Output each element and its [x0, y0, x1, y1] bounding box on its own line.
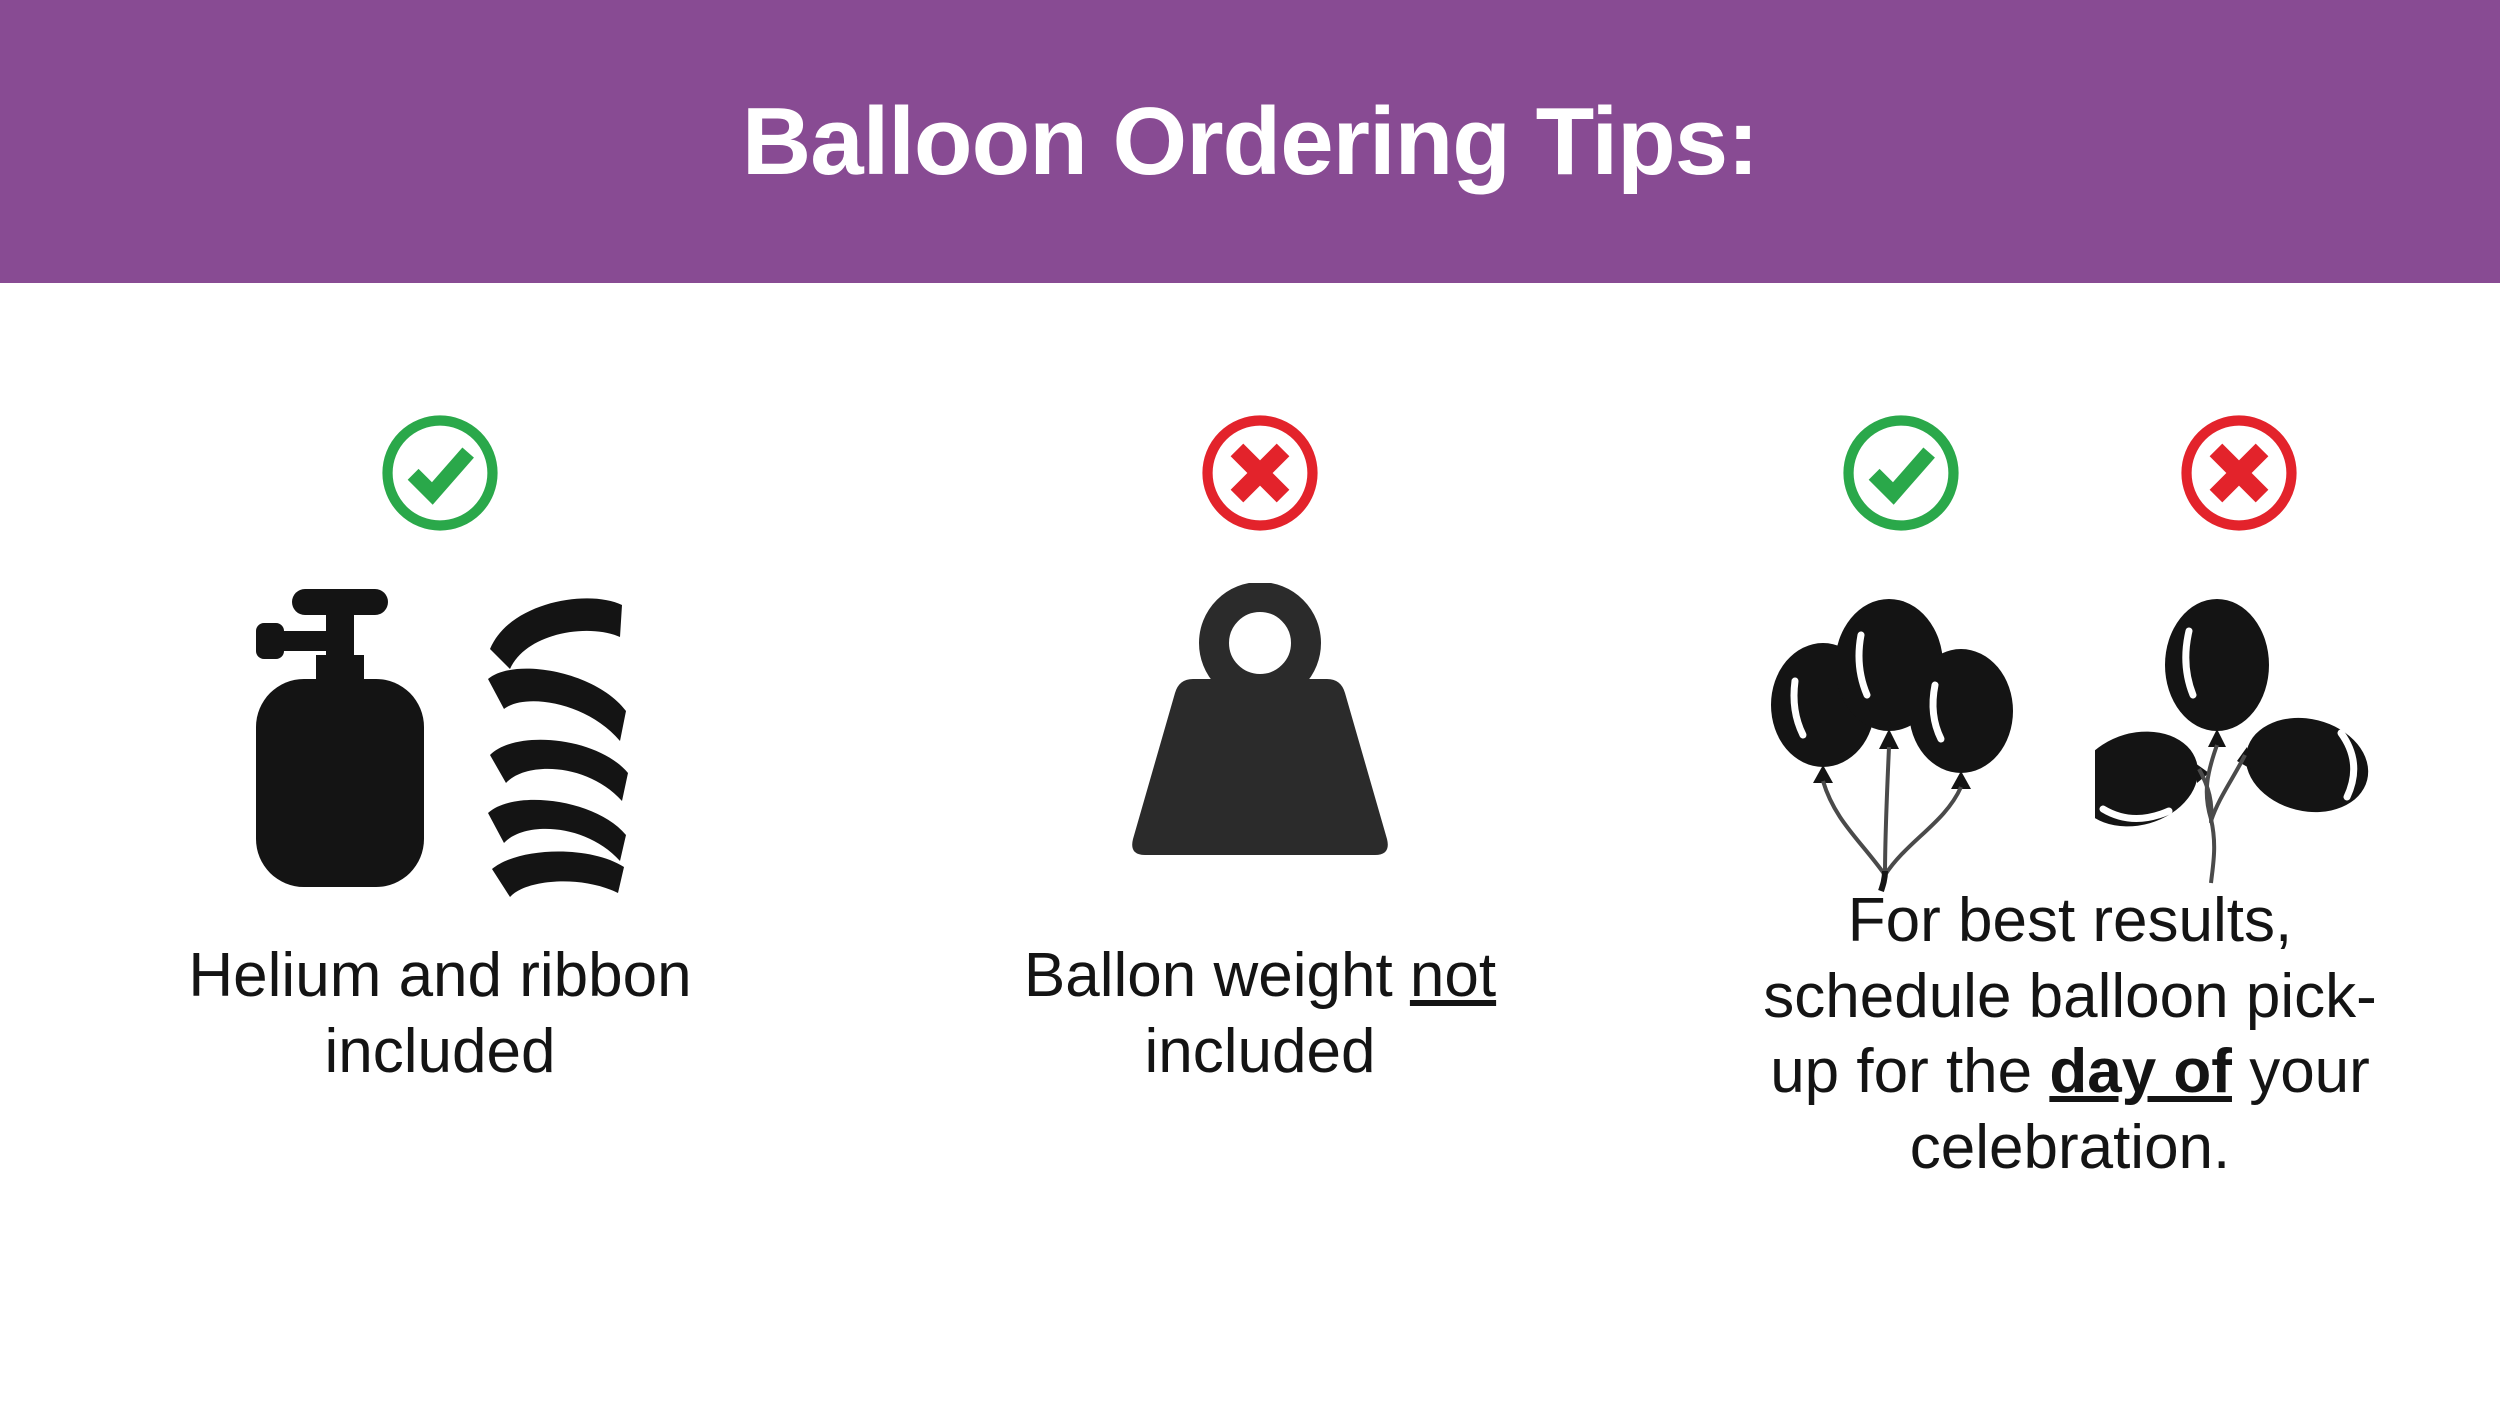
- status-icon-row: [880, 393, 1640, 553]
- status-icon-row: [1640, 393, 2500, 553]
- tip-column-pickup-timing: For best results, schedule balloon pick-…: [1640, 283, 2500, 1406]
- balloons-inflated-icon: [1765, 583, 2035, 893]
- tip-column-helium-ribbon: Helium and ribbon included: [0, 283, 880, 1406]
- ribbon-spiral-icon: [470, 583, 640, 903]
- caption-segment: your: [2232, 1037, 2370, 1106]
- caption-line: Ballon weight not: [950, 938, 1570, 1014]
- page-title: Balloon Ordering Tips:: [742, 94, 1758, 190]
- status-icon-row: [0, 393, 880, 553]
- caption-line: For best results,: [1690, 883, 2450, 959]
- check-circle-icon: [376, 409, 504, 537]
- weight-art-row: [880, 583, 1640, 913]
- caption-line: up for the day of your: [1690, 1034, 2450, 1110]
- cross-circle-icon: [1196, 409, 1324, 537]
- balloons-art-row: [1640, 583, 2500, 913]
- helium-art-row: [0, 583, 880, 913]
- caption-segment-underline: not: [1410, 941, 1496, 1010]
- balloon-weight-icon: [1125, 583, 1395, 873]
- check-circle-icon: [1837, 409, 1965, 537]
- cross-circle-icon: [2175, 409, 2303, 537]
- helium-tank-icon: [240, 583, 430, 893]
- header-band: Balloon Ordering Tips:: [0, 0, 2500, 283]
- caption-line: included: [950, 1014, 1570, 1090]
- caption-line: schedule balloon pick-: [1690, 959, 2450, 1035]
- caption-segment: up for the: [1770, 1037, 2049, 1106]
- tip-caption-pickup-timing: For best results, schedule balloon pick-…: [1640, 883, 2500, 1186]
- tip-caption-balloon-weight: Ballon weight not included: [880, 938, 1640, 1089]
- tip-caption-helium-ribbon: Helium and ribbon included: [0, 938, 880, 1089]
- caption-line: celebration.: [1690, 1110, 2450, 1186]
- caption-segment-emphasis: day of: [2049, 1037, 2232, 1106]
- balloon-ordering-tips-poster: Balloon Ordering Tips:: [0, 0, 2500, 1406]
- caption-segment: Ballon weight: [1024, 941, 1410, 1010]
- tips-columns: Helium and ribbon included: [0, 283, 2500, 1406]
- balloons-deflated-icon: [2095, 583, 2375, 893]
- caption-line: Helium and ribbon: [130, 938, 750, 1014]
- tip-column-balloon-weight: Ballon weight not included: [880, 283, 1640, 1406]
- caption-line: included: [130, 1014, 750, 1090]
